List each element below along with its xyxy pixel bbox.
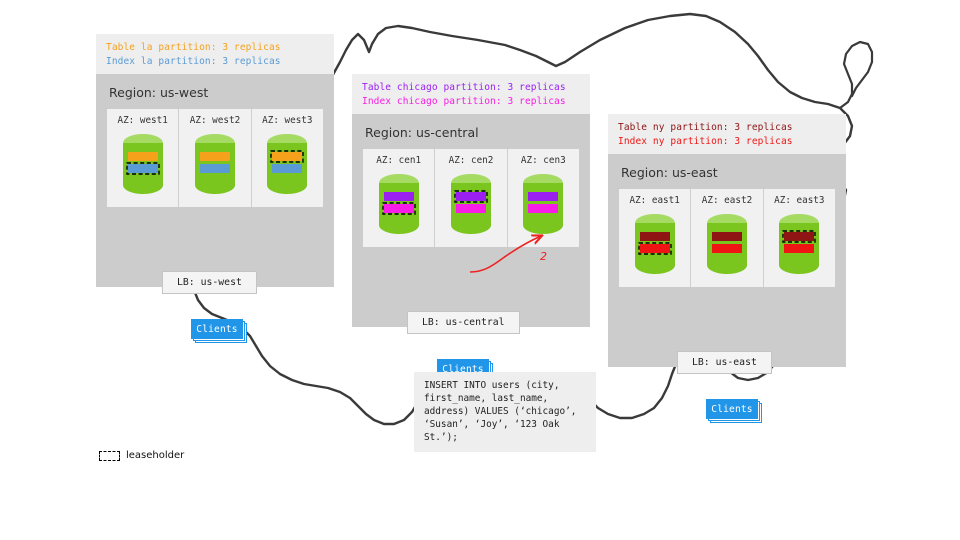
database-cylinder-icon [191,133,239,197]
az-cell-east3[interactable]: AZ: east3 [764,189,835,287]
az-label: AZ: west1 [107,115,178,126]
az-label: AZ: east2 [691,195,762,206]
az-label: AZ: west2 [179,115,250,126]
az-row-us-west: AZ: west1 AZ: west2 [107,109,323,207]
az-label: AZ: cen2 [435,155,506,166]
az-row-us-east: AZ: east1 AZ: east2 [619,189,835,287]
database-cylinder-icon [447,173,495,237]
node-cylinder-east3[interactable] [764,213,835,277]
az-cell-east2[interactable]: AZ: east2 [691,189,763,287]
az-label: AZ: cen3 [508,155,579,166]
region-body-us-west: Region: us-west AZ: west1 [96,74,334,287]
legend-leaseholder: leaseholder [99,450,184,461]
region-title: Region: us-east [619,162,835,189]
node-cylinder-west3[interactable] [252,133,323,197]
database-cylinder-icon [703,213,751,277]
load-balancer-us-central[interactable]: LB: us-central [407,311,520,334]
az-cell-east1[interactable]: AZ: east1 [619,189,691,287]
region-body-us-east: Region: us-east AZ: east1 [608,154,846,367]
database-cylinder-icon [375,173,423,237]
table-partition-text: Table la partition: 3 replicas [106,41,324,55]
region-panel-us-east: Table ny partition: 3 replicas Index ny … [608,114,846,367]
clients-button[interactable]: Clients [706,399,758,419]
node-cylinder-cen3[interactable] [508,173,579,237]
legend-label: leaseholder [126,450,184,461]
clients-stack-us-east[interactable]: Clients [706,399,760,421]
node-cylinder-east1[interactable] [619,213,690,277]
az-cell-west1[interactable]: AZ: west1 [107,109,179,207]
az-row-us-central: AZ: cen1 AZ: cen2 [363,149,579,247]
database-cylinder-icon [519,173,567,237]
node-cylinder-west1[interactable] [107,133,178,197]
clients-button[interactable]: Clients [191,319,243,339]
az-label: AZ: east1 [619,195,690,206]
database-cylinder-icon [119,133,167,197]
region-header-us-east: Table ny partition: 3 replicas Index ny … [608,114,846,154]
node-cylinder-east2[interactable] [691,213,762,277]
load-balancer-us-west[interactable]: LB: us-west [162,271,257,294]
clients-stack-us-west[interactable]: Clients [191,319,245,341]
region-title: Region: us-west [107,82,323,109]
az-cell-cen1[interactable]: AZ: cen1 [363,149,435,247]
database-cylinder-icon [263,133,311,197]
table-partition-text: Table chicago partition: 3 replicas [362,81,580,95]
sql-statement-callout: INSERT INTO users (city, first_name, las… [414,372,596,452]
region-panel-us-west: Table la partition: 3 replicas Index la … [96,34,334,287]
az-label: AZ: west3 [252,115,323,126]
region-header-us-central: Table chicago partition: 3 replicas Inde… [352,74,590,114]
az-label: AZ: cen1 [363,155,434,166]
node-cylinder-cen1[interactable] [363,173,434,237]
index-partition-text: Index ny partition: 3 replicas [618,135,836,149]
az-cell-west3[interactable]: AZ: west3 [252,109,323,207]
node-cylinder-cen2[interactable] [435,173,506,237]
dashed-rect-icon [99,451,120,461]
database-cylinder-icon [775,213,823,277]
table-partition-text: Table ny partition: 3 replicas [618,121,836,135]
node-cylinder-west2[interactable] [179,133,250,197]
az-cell-cen3[interactable]: AZ: cen3 [508,149,579,247]
az-label: AZ: east3 [764,195,835,206]
index-partition-text: Index chicago partition: 3 replicas [362,95,580,109]
az-cell-cen2[interactable]: AZ: cen2 [435,149,507,247]
annotation-step-2: 2 [540,250,547,263]
database-cylinder-icon [631,213,679,277]
diagram-canvas: Table la partition: 3 replicas Index la … [0,0,960,540]
load-balancer-us-east[interactable]: LB: us-east [677,351,772,374]
index-partition-text: Index la partition: 3 replicas [106,55,324,69]
region-title: Region: us-central [363,122,579,149]
region-body-us-central: Region: us-central AZ: cen1 [352,114,590,327]
region-panel-us-central: Table chicago partition: 3 replicas Inde… [352,74,590,327]
az-cell-west2[interactable]: AZ: west2 [179,109,251,207]
region-header-us-west: Table la partition: 3 replicas Index la … [96,34,334,74]
